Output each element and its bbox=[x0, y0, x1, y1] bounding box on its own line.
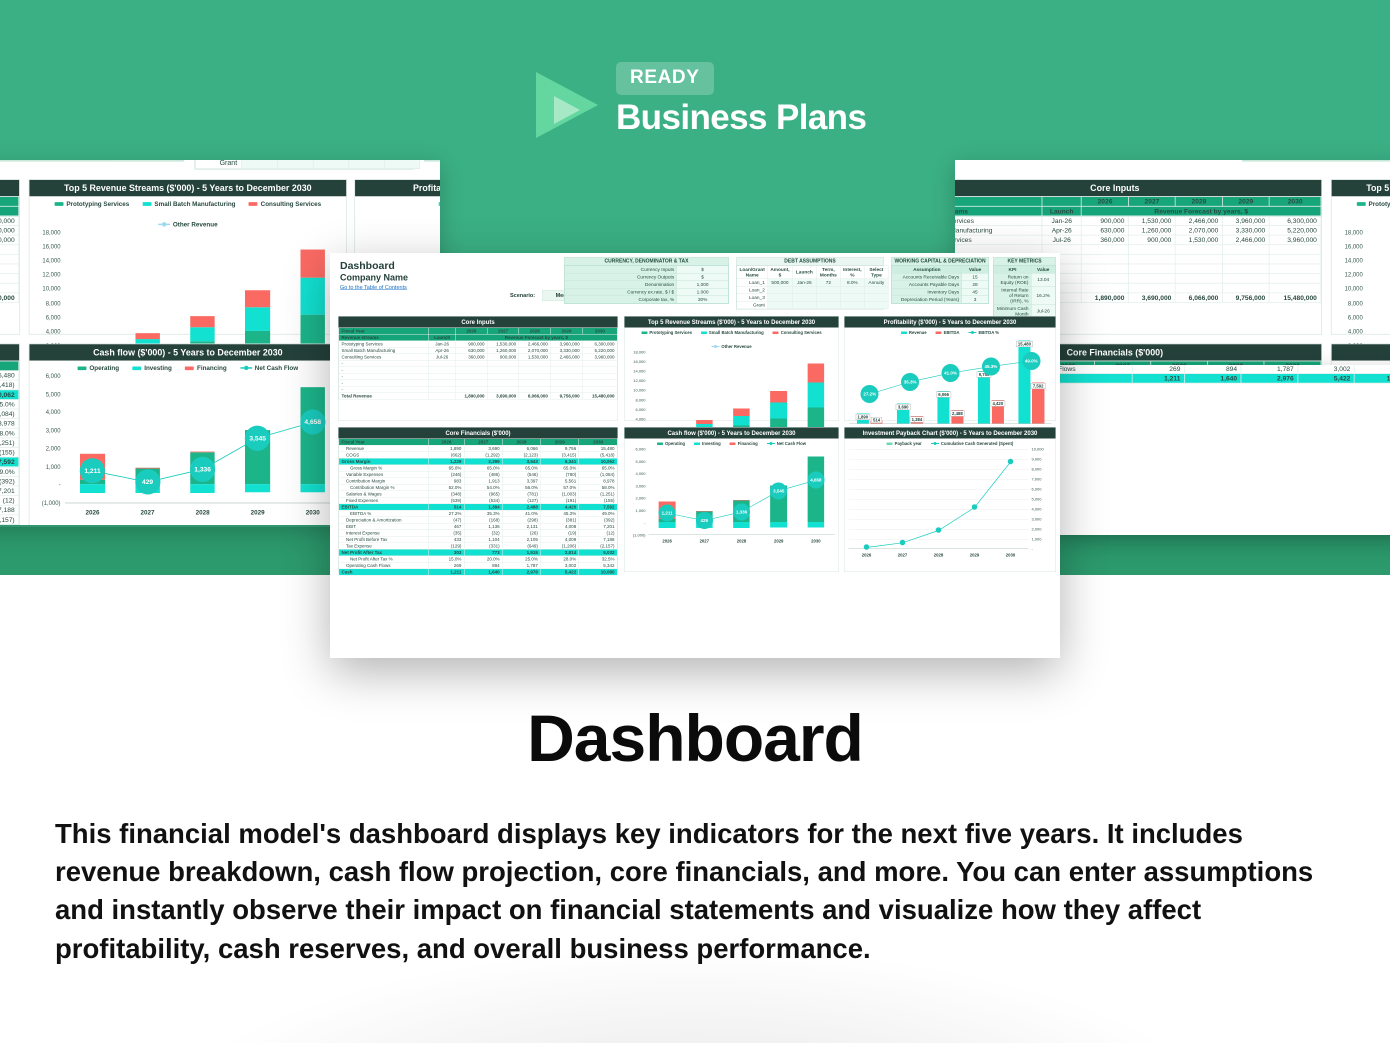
debt-assumptions-box-cell bbox=[816, 294, 840, 302]
working-capital-depreciation-box-cell: Accounts Receivable Days bbox=[892, 273, 962, 281]
chart-legend: OperatingInvestingFinancingNet Cash Flow bbox=[625, 439, 839, 448]
play-icon bbox=[528, 66, 606, 144]
working-capital-depreciation-box: WORKING CAPITAL & DEPRECIATION Assumptio… bbox=[424, 160, 440, 161]
stream-value bbox=[1269, 254, 1321, 264]
x-axis-label: 2029 bbox=[251, 509, 265, 516]
y-axis: -2,0004,0006,0008,00010,00012,00014,0001… bbox=[29, 233, 63, 360]
bar-segment bbox=[696, 420, 713, 424]
working-capital-depreciation-box-cell: Accounts Payable Days bbox=[892, 281, 962, 289]
investment-payback-chart-title: Investment Payback Chart ($'000) - 5 Yea… bbox=[845, 428, 1056, 439]
working-capital-depreciation-box-row: Accounts Payable Days28 bbox=[892, 281, 989, 289]
forecast-caption: Revenue Forecast by years, $ bbox=[1082, 206, 1321, 216]
y-axis-tick: 6,000 bbox=[46, 314, 61, 321]
y-axis-tick: 14,000 bbox=[633, 369, 645, 374]
stream-launch: Apr-26 bbox=[1042, 225, 1082, 235]
financial-row: Contribution Margin 9831,9133,3975,5618,… bbox=[0, 419, 19, 429]
stream-value bbox=[1222, 264, 1269, 274]
currency-denominator-tax-box-value: 30% bbox=[677, 296, 728, 304]
currency-denominator-tax-box-row: Currency ex.rate, $ / $ 1.000 bbox=[565, 288, 729, 296]
financial-value: 1,640 bbox=[464, 569, 502, 576]
revenue-streams-chart-title: Top 5 Revenue Streams ($'000) - 5 Years … bbox=[29, 180, 346, 196]
y-axis-tick: 7,000 bbox=[1032, 477, 1042, 482]
financial-row: EBIT 4671,1362,1314,0087,201 bbox=[0, 486, 19, 496]
financial-row: Contribution Margin % 52.0%54.0%56.0%57.… bbox=[0, 428, 19, 438]
y-axis-tick: 16,000 bbox=[42, 243, 60, 250]
chart-bar bbox=[245, 232, 270, 359]
bar-segment bbox=[245, 290, 270, 307]
stream-value bbox=[1128, 254, 1175, 264]
year-header: 2028 bbox=[1175, 197, 1222, 207]
stream-value bbox=[1175, 254, 1222, 264]
revenue-streams-chart: Top 5 Revenue Streams ($'000) - 5 Years … bbox=[29, 179, 347, 334]
plot: 20262027202820292030 bbox=[649, 352, 835, 438]
y-axis-tick: - bbox=[644, 520, 645, 525]
fiscal-year-label: Fiscal Year bbox=[955, 197, 1042, 207]
bar-segment bbox=[300, 278, 325, 315]
x-axis-label: 2026 bbox=[862, 553, 871, 558]
legend-item: EBITDA % bbox=[968, 330, 999, 335]
year-header: 2029 bbox=[1222, 197, 1269, 207]
debt-assumptions-box-cell bbox=[313, 160, 349, 169]
debt-assumptions-box-cell: 500,000 bbox=[768, 279, 793, 287]
stream-value bbox=[1222, 254, 1269, 264]
legend-swatch bbox=[730, 442, 736, 445]
legend-swatch bbox=[439, 202, 440, 206]
dashboard-copy-left: Dashboard Company Name Go to the Table o… bbox=[0, 160, 440, 173]
screenshot-card-main: Dashboard Company Name Go to the Table o… bbox=[330, 253, 1060, 658]
y-axis-tick: (1,000) bbox=[42, 500, 61, 507]
legend-swatch bbox=[185, 366, 194, 370]
currency-denominator-tax-box-value: 1.000 bbox=[677, 288, 728, 296]
chart-legend: Prototyping ServicesSmall Batch Manufact… bbox=[29, 196, 346, 229]
debt-assumptions-box-cell: Grant bbox=[737, 301, 768, 309]
revenue-stream-row: Prototyping Services Jan-26 900,0001,530… bbox=[0, 216, 19, 226]
debt-assumptions-box-cell bbox=[792, 286, 816, 294]
core-financials-panel: Core Financials ($'000) Fiscal Year 2026… bbox=[1060, 365, 1390, 378]
y-axis-tick: 16,000 bbox=[1345, 243, 1363, 250]
legend-swatch bbox=[657, 442, 663, 445]
y-axis-tick: 12,000 bbox=[1345, 272, 1363, 279]
revenue-stream-row: - bbox=[0, 254, 19, 264]
legend-item: Prototyping Services bbox=[54, 200, 129, 207]
financial-row: Net Profit Before Tax 4331,1042,1054,009… bbox=[0, 505, 19, 515]
chart-legend: RevenueEBITDAEBITDA % bbox=[355, 196, 440, 209]
key-metrics-box-caption: KEY METRICS bbox=[994, 258, 1056, 266]
year-header: 2030 bbox=[0, 361, 19, 371]
y-axis-tick: 14,000 bbox=[1345, 257, 1363, 264]
x-axis-label: 2028 bbox=[934, 553, 943, 558]
dashboard-root: Dashboard Company Name Go to the Table o… bbox=[330, 253, 1060, 312]
legend-swatch bbox=[249, 202, 258, 206]
debt-assumptions-box-cell bbox=[384, 160, 420, 169]
currency-denominator-tax-box-value: $ bbox=[677, 266, 728, 274]
core-financials-panel: Core Financials ($'000) Fiscal Year 2026… bbox=[338, 427, 618, 572]
stream-value: 3,960,000 bbox=[0, 235, 19, 245]
y-axis-tick: 10,000 bbox=[1032, 447, 1044, 452]
currency-denominator-tax-box-row: Currency Inputs $ bbox=[565, 266, 729, 274]
data-point bbox=[1008, 459, 1014, 465]
bar-segment bbox=[733, 409, 750, 416]
stream-value bbox=[0, 254, 19, 264]
brand-name: Business Plans bbox=[616, 98, 866, 138]
legend-item: Operating bbox=[657, 441, 685, 446]
x-axis-label: 2030 bbox=[306, 509, 320, 516]
core-inputs-title: Core Inputs bbox=[339, 317, 618, 328]
legend-swatch bbox=[887, 442, 893, 445]
key-metrics-box-row: Return on Equity (ROE)13.04 bbox=[994, 273, 1056, 286]
debt-assumptions-box-cell bbox=[816, 286, 840, 294]
y-axis: -2,0004,0006,0008,00010,00012,00014,0001… bbox=[625, 352, 648, 438]
data-point bbox=[900, 540, 906, 546]
legend-swatch bbox=[641, 331, 647, 334]
stream-value: 3,960,000 bbox=[1269, 235, 1321, 245]
chart-bar bbox=[659, 352, 676, 438]
y-axis-tick: 1,000 bbox=[1032, 537, 1042, 542]
total-revenue-value: 6,066,000 bbox=[519, 393, 551, 400]
currency-denominator-tax-box-label: Currency Inputs bbox=[565, 266, 677, 274]
core-inputs-title: Core Inputs bbox=[955, 180, 1321, 196]
debt-assumptions-box-cell bbox=[864, 294, 888, 302]
y-axis-tick: 1,000 bbox=[635, 508, 645, 513]
x-axis-label: 2030 bbox=[811, 539, 820, 544]
debt-assumptions-box-cell bbox=[840, 301, 864, 309]
y-axis-tick: 8,000 bbox=[635, 398, 645, 403]
legend-item: Net Cash Flow bbox=[767, 441, 806, 446]
revenue-streams-chart-title: Top 5 Revenue Streams ($'000) - 5 Years … bbox=[625, 317, 839, 328]
y-axis-tick: 6,000 bbox=[1348, 314, 1363, 321]
total-revenue-row: Total Revenue 1,890,0003,690,0006,066,00… bbox=[339, 393, 618, 400]
data-point-label: 3,545 bbox=[245, 425, 270, 450]
bar-segment bbox=[808, 364, 825, 383]
y-axis-tick: 8,000 bbox=[1348, 300, 1363, 307]
legend-swatch bbox=[54, 202, 63, 206]
plot: 1,89051420263,6901,38420276,0662,4882028… bbox=[850, 338, 1052, 424]
working-capital-depreciation-box: WORKING CAPITAL & DEPRECIATION Assumptio… bbox=[891, 257, 989, 304]
total-revenue-value: 1,890,000 bbox=[455, 393, 487, 400]
financial-row: Depreciation & Amortization (47)(168)(29… bbox=[0, 476, 19, 486]
y-axis-tick: 9,000 bbox=[1032, 457, 1042, 462]
financial-row: Cash 1,2111,6402,9765,42210,080 bbox=[339, 569, 618, 576]
total-revenue-value: 9,756,000 bbox=[1222, 293, 1269, 303]
currency-denominator-tax-box-label: Currency Outputs bbox=[565, 273, 677, 281]
debt-assumptions-box-header-cell: Select Type bbox=[864, 266, 888, 279]
stream-value: 2,466,000 bbox=[1222, 235, 1269, 245]
y-axis-tick: 14,000 bbox=[42, 257, 60, 264]
legend-swatch bbox=[1357, 202, 1366, 206]
financial-value: 7,592 bbox=[0, 457, 19, 467]
legend-item: Prototyping Services bbox=[641, 330, 692, 335]
chart-bar bbox=[190, 232, 215, 359]
legend-item: Consulting Services bbox=[249, 200, 321, 207]
financial-value: 10,080 bbox=[1354, 374, 1390, 384]
debt-assumptions-box-cell bbox=[840, 294, 864, 302]
financial-value: 8,978 bbox=[0, 419, 19, 429]
financial-value: 65.0% bbox=[0, 399, 19, 409]
chart-legend: Payback yearCumulative Cash Generated (S… bbox=[845, 439, 1056, 448]
screenshot-card-right-lower: Dashboard Company Name Go to the Table o… bbox=[1060, 365, 1390, 535]
total-revenue-value: 15,480,000 bbox=[582, 393, 617, 400]
stream-value: 1,530,000 bbox=[1128, 216, 1175, 226]
data-point bbox=[864, 544, 870, 550]
bar-segment bbox=[245, 308, 270, 332]
currency-denominator-tax-box-value: 1,000 bbox=[677, 281, 728, 289]
stream-value: 5,220,000 bbox=[0, 225, 19, 235]
financial-row: Cash 1,2111,6402,9765,42210,080 bbox=[1060, 374, 1390, 384]
working-capital-depreciation-box-header-cell: Assumption bbox=[892, 266, 962, 274]
financial-value: 1,640 bbox=[1185, 374, 1242, 384]
cash-flow-chart-title: Cash flow ($'000) - 5 Years to December … bbox=[1332, 344, 1390, 360]
y-axis-tick: 12,000 bbox=[633, 378, 645, 383]
x-axis-label: 2027 bbox=[898, 553, 907, 558]
legend-swatch bbox=[773, 331, 779, 334]
legend-swatch bbox=[694, 442, 700, 445]
page-description: This financial model's dashboard display… bbox=[55, 815, 1345, 968]
stream-value bbox=[1175, 274, 1222, 284]
financial-value: 2,976 bbox=[1241, 374, 1298, 384]
debt-assumptions-box-cell bbox=[278, 160, 314, 169]
profitability-chart: Profitability ($'000) - 5 Years to Decem… bbox=[844, 316, 1056, 421]
debt-assumptions-box-header-cell: Amount, $ bbox=[768, 266, 793, 279]
chart-plot-area: (1,000)-1,0002,0003,0004,0005,0006,000 2… bbox=[625, 447, 839, 546]
bar-segment bbox=[770, 391, 787, 403]
total-revenue-value: 15,480,000 bbox=[0, 293, 19, 303]
legend-swatch bbox=[701, 331, 707, 334]
currency-denominator-tax-box-value: $ bbox=[677, 273, 728, 281]
stream-value bbox=[0, 245, 19, 255]
stream-value bbox=[1128, 264, 1175, 274]
data-point bbox=[936, 527, 942, 533]
stream-value: 6,300,000 bbox=[1269, 216, 1321, 226]
key-metrics-box-cell: 16.2% bbox=[1031, 286, 1055, 305]
debt-assumptions-box-cell bbox=[864, 286, 888, 294]
legend-item: Revenue bbox=[439, 200, 440, 207]
debt-assumptions-box-header-cell: Term, Months bbox=[816, 266, 840, 279]
financial-row: Interest Expense (35)(32)(26)(19)(12) bbox=[0, 496, 19, 506]
financial-row: Net Profit After Tax 3037731,5152,8145,0… bbox=[0, 524, 19, 525]
chart-line bbox=[849, 449, 1029, 549]
debt-assumptions-box-row: Loan_3 bbox=[737, 294, 889, 302]
y-axis-tick: - bbox=[59, 482, 61, 489]
revenue-streams-label: Revenue streams bbox=[955, 206, 1042, 216]
chart-bar bbox=[135, 232, 160, 359]
stream-launch: Jul-26 bbox=[1042, 235, 1082, 245]
stream-value bbox=[1269, 264, 1321, 274]
debt-assumptions-box-cell: 8.0% bbox=[840, 279, 864, 287]
legend-line-marker bbox=[931, 443, 939, 444]
financial-value: 7,201 bbox=[0, 486, 19, 496]
debt-assumptions-box-cell: Loan_3 bbox=[737, 294, 768, 302]
cash-flow-chart: Cash flow ($'000) - 5 Years to December … bbox=[624, 427, 839, 572]
chart-plot-area: 20262027202820292030 -1,0002,0003,0004,0… bbox=[845, 447, 1056, 560]
core-inputs-panel: Core Inputs Fiscal Year 2026202720282029… bbox=[338, 316, 618, 421]
debt-assumptions-box-cell bbox=[840, 286, 864, 294]
stream-value bbox=[1222, 283, 1269, 293]
year-header: 2027 bbox=[1128, 197, 1175, 207]
stream-value bbox=[1082, 254, 1129, 264]
y-axis-tick: 1,000 bbox=[46, 464, 61, 471]
y-axis-tick: 4,000 bbox=[635, 471, 645, 476]
stream-value: 2,466,000 bbox=[1175, 216, 1222, 226]
chart-plot-area: 1,89051420263,6901,38420276,0662,4882028… bbox=[845, 336, 1056, 435]
y-axis-tick: 10,000 bbox=[1345, 286, 1363, 293]
stream-value: 3,330,000 bbox=[1222, 225, 1269, 235]
chart-bar bbox=[300, 232, 325, 359]
legend-item: Investing bbox=[132, 364, 171, 371]
financial-row: Fixed Expenses (539)(534)(127)(191)(155) bbox=[0, 447, 19, 457]
key-metrics-box-cell: Return on Equity (ROE) bbox=[994, 273, 1032, 286]
scenario-label: Scenario: bbox=[510, 293, 535, 299]
debt-assumptions-box-row: Loan_1500,000Jan-26728.0%Annuity bbox=[737, 279, 889, 287]
data-point-label: 1,336 bbox=[733, 503, 750, 520]
bar-segment bbox=[135, 333, 160, 339]
currency-denominator-tax-box-label: Currency ex.rate, $ / $ bbox=[565, 288, 677, 296]
y-axis-tick: 5,000 bbox=[1032, 497, 1042, 502]
chart-line bbox=[65, 376, 340, 503]
financial-value: 894 bbox=[1185, 365, 1242, 374]
x-axis-label: 2026 bbox=[85, 509, 99, 516]
revenue-streams-chart-title: Top 5 Revenue Streams ($'000) - 5 Years … bbox=[1332, 180, 1390, 196]
data-point-label: 45.3% bbox=[982, 358, 1000, 376]
stream-value: 2,070,000 bbox=[1175, 225, 1222, 235]
stream-launch: Jan-26 bbox=[1042, 216, 1082, 226]
financial-value: (1,251) bbox=[0, 438, 19, 448]
y-axis-tick: 10,000 bbox=[633, 388, 645, 393]
dashboard-header: Dashboard Company Name Go to the Table o… bbox=[955, 160, 1390, 173]
year-header: 2030 bbox=[0, 197, 19, 207]
financial-row: Tax Expense (129)(331)(649)(1,206)(2,157… bbox=[0, 515, 19, 525]
working-capital-depreciation-box-caption: WORKING CAPITAL & DEPRECIATION bbox=[892, 258, 989, 266]
total-revenue-value: 15,480,000 bbox=[1269, 293, 1321, 303]
y-axis-tick: 4,000 bbox=[46, 328, 61, 335]
financial-value: 3,002 bbox=[1298, 365, 1355, 374]
currency-denominator-tax-box: CURRENCY, DENOMINATOR & TAX Currency Inp… bbox=[1242, 160, 1390, 161]
revenue-stream-row: - bbox=[0, 283, 19, 293]
dashboard-header: Dashboard Company Name Go to the Table o… bbox=[330, 253, 1060, 312]
legend-line-marker bbox=[240, 367, 252, 368]
debt-assumptions-box-header-cell: Launch bbox=[792, 266, 816, 279]
x-axis-label: 2028 bbox=[196, 509, 210, 516]
stream-value bbox=[1222, 245, 1269, 255]
stream-value bbox=[1128, 274, 1175, 284]
financial-value: 5,032 bbox=[0, 524, 19, 525]
working-capital-depreciation-box-row: Inventory Days45 bbox=[892, 288, 989, 296]
working-capital-depreciation-box-cell: 28 bbox=[962, 281, 988, 289]
cash-flow-chart: Cash flow ($'000) - 5 Years to December … bbox=[29, 344, 347, 525]
plot: 20262027202820292030 bbox=[65, 233, 340, 360]
stream-value bbox=[1082, 274, 1129, 284]
working-capital-depreciation-box-cell: Depreciation Period (Years) bbox=[892, 296, 962, 304]
y-axis-tick: 2,000 bbox=[1032, 527, 1042, 532]
debt-assumptions-box-cell bbox=[349, 160, 385, 169]
currency-denominator-tax-box-caption: CURRENCY, DENOMINATOR & TAX bbox=[565, 258, 729, 266]
data-point-label: 1,336 bbox=[190, 457, 215, 482]
financial-row: Revenue 1,8903,6906,0669,75615,480 bbox=[0, 371, 19, 381]
stream-value bbox=[0, 283, 19, 293]
x-axis-label: 2030 bbox=[1006, 553, 1015, 558]
stream-value bbox=[1082, 264, 1129, 274]
forecast-caption: Revenue Forecast by years, $ bbox=[0, 206, 19, 216]
debt-assumptions-box-cell bbox=[241, 160, 278, 169]
chart-plot-area: (1,000)-1,0002,0003,0004,0005,0006,000 2… bbox=[29, 373, 346, 520]
key-metrics-box-header-cell: KPI bbox=[994, 266, 1032, 274]
key-metrics-box-row: Internal Rate of Return (IRR), %16.2% bbox=[994, 286, 1056, 305]
y-axis-tick: 6,000 bbox=[635, 447, 645, 452]
financial-value: 1,787 bbox=[1241, 365, 1298, 374]
financial-value: 58.0% bbox=[0, 428, 19, 438]
stream-value: 3,960,000 bbox=[1222, 216, 1269, 226]
legend-item: Small Batch Manufacturing bbox=[143, 200, 236, 207]
debt-assumptions-box-cell bbox=[792, 294, 816, 302]
x-axis-label: 2029 bbox=[970, 553, 979, 558]
y-axis-tick: 8,000 bbox=[46, 300, 61, 307]
debt-assumptions-box: DEBT ASSUMPTIONS Loan/Grant NameAmount, … bbox=[736, 257, 884, 310]
financial-value: 269 bbox=[1132, 365, 1184, 374]
stream-value bbox=[1175, 245, 1222, 255]
financial-row: Salaries & Wages (348)(965)(781)(1,003)(… bbox=[0, 438, 19, 448]
bar-segment bbox=[190, 327, 215, 342]
total-revenue-label: Total Revenue bbox=[339, 393, 429, 400]
financial-label: Operating Cash Flows bbox=[1060, 365, 1132, 374]
y-axis-tick: 5,000 bbox=[46, 391, 61, 398]
legend-line-marker bbox=[158, 224, 170, 225]
debt-assumptions-box-cell bbox=[816, 301, 840, 309]
x-axis-label: 2027 bbox=[700, 539, 709, 544]
currency-denominator-tax-box-row: Currency Outputs $ bbox=[565, 273, 729, 281]
data-point-label: 429 bbox=[696, 512, 713, 529]
debt-assumptions-box-cell bbox=[768, 301, 793, 309]
debt-assumptions-box-cell: Grant bbox=[196, 160, 242, 169]
x-axis-label: 2026 bbox=[662, 539, 671, 544]
debt-assumptions-box-cell: Jan-26 bbox=[792, 279, 816, 287]
y-axis-tick: - bbox=[1032, 547, 1033, 552]
bar-segment bbox=[190, 316, 215, 327]
revenue-stream-row: - bbox=[0, 274, 19, 284]
working-capital-depreciation-box-header-cell: Value bbox=[962, 266, 988, 274]
legend-swatch bbox=[77, 366, 86, 370]
x-axis-label: 2027 bbox=[141, 509, 155, 516]
y-axis-tick: 6,000 bbox=[46, 373, 61, 380]
revenue-stream-row: Prototyping Services Jan-26 900,0001,530… bbox=[955, 216, 1321, 226]
data-point-label: 3,545 bbox=[770, 482, 787, 499]
chart-bar bbox=[770, 352, 787, 438]
bar-segment bbox=[300, 250, 325, 278]
bar-segment bbox=[808, 382, 825, 407]
dashboard-copy-right: Dashboard Company Name Go to the Table o… bbox=[955, 160, 1390, 173]
legend-swatch bbox=[936, 331, 942, 334]
legend-line-marker bbox=[767, 443, 775, 444]
financial-row: Variable Expenses (246)(486)(546)(780)(1… bbox=[0, 409, 19, 419]
currency-denominator-tax-box-row: Corporate tax, % 30% bbox=[565, 296, 729, 304]
y-axis-tick: 6,000 bbox=[1032, 487, 1042, 492]
financial-value: 2,976 bbox=[502, 569, 540, 576]
data-point-label: 1,211 bbox=[80, 458, 105, 483]
financial-value: 5,422 bbox=[541, 569, 579, 576]
debt-assumptions-box: DEBT ASSUMPTIONS Loan/Grant NameAmount, … bbox=[194, 160, 413, 170]
stream-value: 900,000 bbox=[1128, 235, 1175, 245]
legend-item: Operating bbox=[77, 364, 119, 371]
revenue-stream-row: - bbox=[0, 245, 19, 255]
financial-value: 5,422 bbox=[1298, 374, 1355, 384]
stream-value bbox=[1082, 283, 1129, 293]
y-axis: -1,0002,0003,0004,0005,0006,0007,0008,00… bbox=[1030, 449, 1056, 549]
key-metrics-box-cell: Internal Rate of Return (IRR), % bbox=[994, 286, 1032, 305]
core-inputs-panel: Core Inputs Fiscal Year 2026202720282029… bbox=[0, 179, 20, 334]
stream-value bbox=[1269, 274, 1321, 284]
financial-label: Cash bbox=[339, 569, 429, 576]
revenue-streams-chart: Top 5 Revenue Streams ($'000) - 5 Years … bbox=[624, 316, 839, 421]
y-axis-tick: 2,000 bbox=[635, 496, 645, 501]
data-point-label: 41.0% bbox=[942, 364, 960, 382]
